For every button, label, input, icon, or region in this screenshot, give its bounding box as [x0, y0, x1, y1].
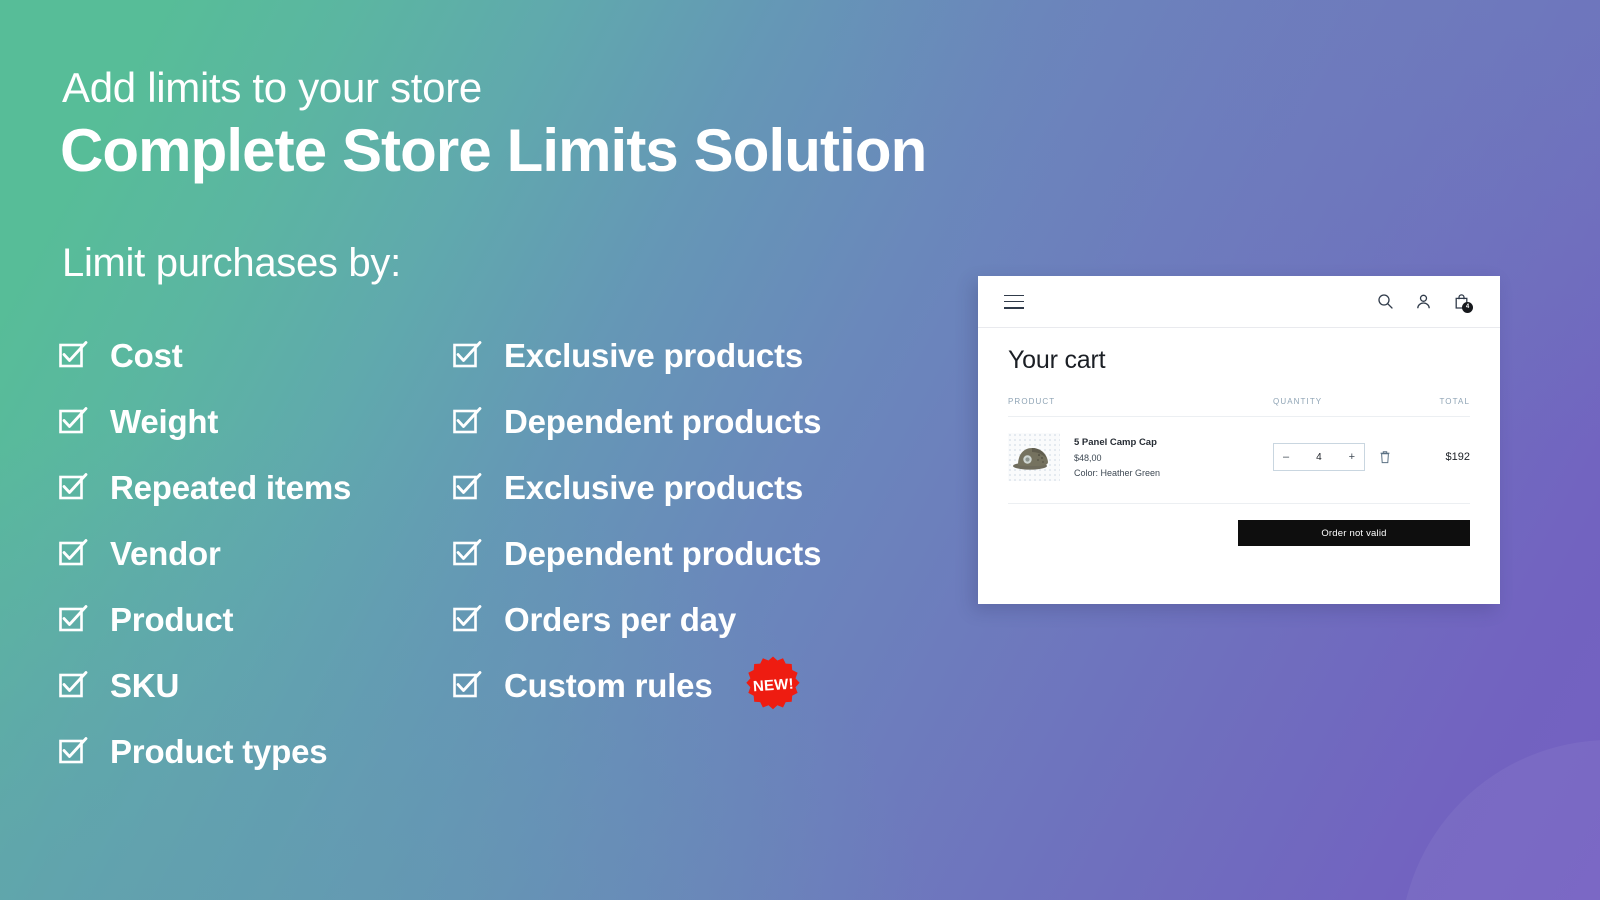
feature-label: Dependent products	[504, 405, 821, 438]
feature-item: Product types	[58, 718, 351, 784]
checked-checkbox-icon	[452, 604, 482, 634]
user-icon[interactable]	[1415, 293, 1432, 310]
quantity-increment-button[interactable]: +	[1349, 452, 1355, 463]
cart-footer: Order not valid	[978, 504, 1500, 546]
feature-item: Exclusive products	[452, 322, 821, 388]
feature-item: Dependent products	[452, 520, 821, 586]
feature-label: SKU	[110, 669, 179, 702]
feature-item: Orders per day	[452, 586, 821, 652]
trash-icon[interactable]	[1379, 450, 1391, 464]
feature-label: Product	[110, 603, 233, 636]
cart-line-item: 5 Panel Camp Cap $48,00 Color: Heather G…	[1008, 417, 1470, 504]
page-title: Complete Store Limits Solution	[60, 116, 926, 185]
product-price: $48,00	[1074, 453, 1160, 463]
hero-subhead: Limit purchases by:	[62, 241, 401, 286]
feature-item: Repeated items	[58, 454, 351, 520]
checked-checkbox-icon	[452, 406, 482, 436]
cart-table-header: PRODUCT QUANTITY TOTAL	[1008, 397, 1470, 417]
quantity-decrement-button[interactable]: –	[1283, 452, 1289, 463]
feature-label: Vendor	[110, 537, 221, 570]
quantity-stepper[interactable]: – 4 +	[1273, 443, 1365, 471]
cart-preview-card: 4 Your cart PRODUCT QUANTITY TOTAL	[978, 276, 1500, 604]
checked-checkbox-icon	[452, 340, 482, 370]
hero-eyebrow: Add limits to your store	[62, 64, 482, 112]
cart-body: Your cart PRODUCT QUANTITY TOTAL	[978, 328, 1500, 504]
feature-label: Repeated items	[110, 471, 351, 504]
product-info: 5 Panel Camp Cap $48,00 Color: Heather G…	[1074, 437, 1160, 478]
new-badge-label: NEW!	[753, 675, 795, 695]
feature-label: Dependent products	[504, 537, 821, 570]
product-variant: Color: Heather Green	[1074, 468, 1160, 478]
search-icon[interactable]	[1377, 293, 1394, 310]
checked-checkbox-icon	[58, 736, 88, 766]
product-cell: 5 Panel Camp Cap $48,00 Color: Heather G…	[1008, 433, 1273, 481]
checked-checkbox-icon	[58, 670, 88, 700]
checkout-button[interactable]: Order not valid	[1238, 520, 1470, 546]
feature-label: Orders per day	[504, 603, 736, 636]
feature-label: Weight	[110, 405, 218, 438]
quantity-value[interactable]: 4	[1316, 452, 1322, 463]
feature-item: SKU	[58, 652, 351, 718]
feature-label: Exclusive products	[504, 339, 803, 372]
checked-checkbox-icon	[452, 538, 482, 568]
shopping-bag-icon[interactable]: 4	[1453, 293, 1470, 310]
checked-checkbox-icon	[58, 538, 88, 568]
feature-item: Cost	[58, 322, 351, 388]
checked-checkbox-icon	[58, 406, 88, 436]
product-name[interactable]: 5 Panel Camp Cap	[1074, 437, 1160, 448]
line-total: $192	[1413, 451, 1470, 463]
cart-count-badge: 4	[1462, 302, 1473, 313]
checked-checkbox-icon	[452, 670, 482, 700]
column-header-product: PRODUCT	[1008, 397, 1273, 406]
hamburger-icon[interactable]	[1004, 295, 1024, 309]
feature-item: Vendor	[58, 520, 351, 586]
checked-checkbox-icon	[58, 472, 88, 502]
cart-title: Your cart	[1008, 346, 1470, 375]
feature-item: Exclusive products	[452, 454, 821, 520]
new-badge: NEW!	[742, 654, 804, 716]
checked-checkbox-icon	[58, 604, 88, 634]
storefront-header: 4	[978, 276, 1500, 328]
feature-label: Product types	[110, 735, 327, 768]
feature-column-left: Cost Weight Repeated items	[58, 322, 351, 784]
checked-checkbox-icon	[452, 472, 482, 502]
feature-item: Dependent products	[452, 388, 821, 454]
corner-decoration	[1400, 740, 1600, 900]
product-thumbnail	[1008, 433, 1060, 481]
promo-banner: Add limits to your store Complete Store …	[0, 0, 1600, 900]
feature-column-right: Exclusive products Dependent products Ex…	[452, 322, 821, 718]
feature-label: Custom rules	[504, 669, 712, 702]
column-header-quantity: QUANTITY	[1273, 397, 1413, 406]
feature-item: Weight	[58, 388, 351, 454]
feature-label: Exclusive products	[504, 471, 803, 504]
quantity-cell: – 4 +	[1273, 443, 1413, 471]
header-icon-group: 4	[1377, 293, 1470, 310]
column-header-total: TOTAL	[1413, 397, 1470, 406]
checked-checkbox-icon	[58, 340, 88, 370]
hero-content: Add limits to your store Complete Store …	[0, 0, 1000, 900]
feature-label: Cost	[110, 339, 183, 372]
feature-item: Custom rules NEW!	[452, 652, 821, 718]
feature-item: Product	[58, 586, 351, 652]
